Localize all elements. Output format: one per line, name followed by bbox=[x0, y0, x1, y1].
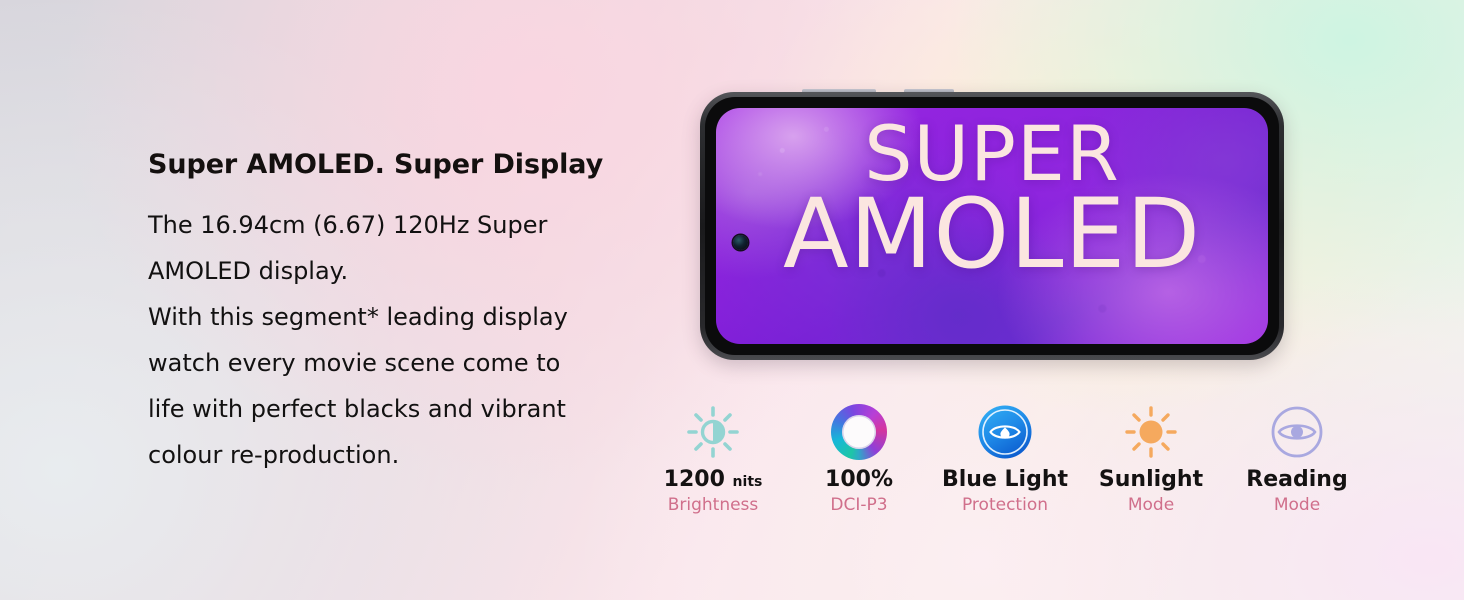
feature-sublabel: Mode bbox=[1224, 496, 1370, 516]
front-camera-punch-hole bbox=[733, 235, 748, 250]
feature-value: 100% bbox=[786, 468, 932, 492]
gamut-ring bbox=[831, 404, 887, 460]
sunlight-sun-icon bbox=[1078, 396, 1224, 468]
description-line: life with perfect blacks and vibrant bbox=[148, 386, 648, 432]
feature-value-text: 1200 bbox=[664, 467, 725, 492]
brightness-sun-icon bbox=[640, 396, 786, 468]
feature-value: Sunlight bbox=[1078, 468, 1224, 492]
phone-mockup: SUPER AMOLED bbox=[700, 92, 1284, 360]
description-line: colour re-production. bbox=[148, 432, 648, 478]
feature-value-text: Blue Light bbox=[942, 467, 1068, 492]
feature-value-text: 100% bbox=[825, 467, 893, 492]
reading-eye-icon bbox=[1224, 396, 1370, 468]
feature-value-text: Sunlight bbox=[1099, 467, 1203, 492]
feature-value: Reading bbox=[1224, 468, 1370, 492]
feature-value: Blue Light bbox=[932, 468, 1078, 492]
feature-brightness: 1200 nits Brightness bbox=[640, 396, 786, 516]
feature-dci-p3: 100% DCI-P3 bbox=[786, 396, 932, 516]
description-line: The 16.94cm (6.67) 120Hz Super bbox=[148, 202, 648, 248]
screen-wordmark: SUPER AMOLED bbox=[716, 118, 1268, 280]
feature-value-text: Reading bbox=[1246, 467, 1347, 492]
page-title: Super AMOLED. Super Display bbox=[148, 150, 648, 180]
feature-value: 1200 nits bbox=[640, 468, 786, 492]
screen-wordmark-line2: AMOLED bbox=[716, 189, 1268, 279]
phone-screen: SUPER AMOLED bbox=[716, 108, 1268, 344]
feature-sublabel: Protection bbox=[932, 496, 1078, 516]
feature-sublabel: Mode bbox=[1078, 496, 1224, 516]
description-line: watch every movie scene come to bbox=[148, 340, 648, 386]
description-paragraph: The 16.94cm (6.67) 120Hz Super AMOLED di… bbox=[148, 202, 648, 478]
phone-frame: SUPER AMOLED bbox=[700, 92, 1284, 360]
phone-bezel: SUPER AMOLED bbox=[705, 97, 1279, 355]
feature-blue-light: Blue Light Protection bbox=[932, 396, 1078, 516]
gamut-ring-center bbox=[842, 415, 876, 449]
feature-highlights-row: 1200 nits Brightness 100% DCI-P3 bbox=[640, 396, 1370, 516]
feature-sublabel: Brightness bbox=[640, 496, 786, 516]
feature-reading-mode: Reading Mode bbox=[1224, 396, 1370, 516]
description-line: With this segment* leading display bbox=[148, 294, 648, 340]
blue-light-eye-icon bbox=[932, 396, 1078, 468]
color-gamut-ring-icon bbox=[786, 396, 932, 468]
feature-unit: nits bbox=[733, 474, 763, 490]
description-line: AMOLED display. bbox=[148, 248, 648, 294]
feature-sunlight-mode: Sunlight Mode bbox=[1078, 396, 1224, 516]
super-amoled-promo-banner: Super AMOLED. Super Display The 16.94cm … bbox=[0, 0, 1464, 600]
copy-block: Super AMOLED. Super Display The 16.94cm … bbox=[148, 150, 648, 478]
feature-sublabel: DCI-P3 bbox=[786, 496, 932, 516]
